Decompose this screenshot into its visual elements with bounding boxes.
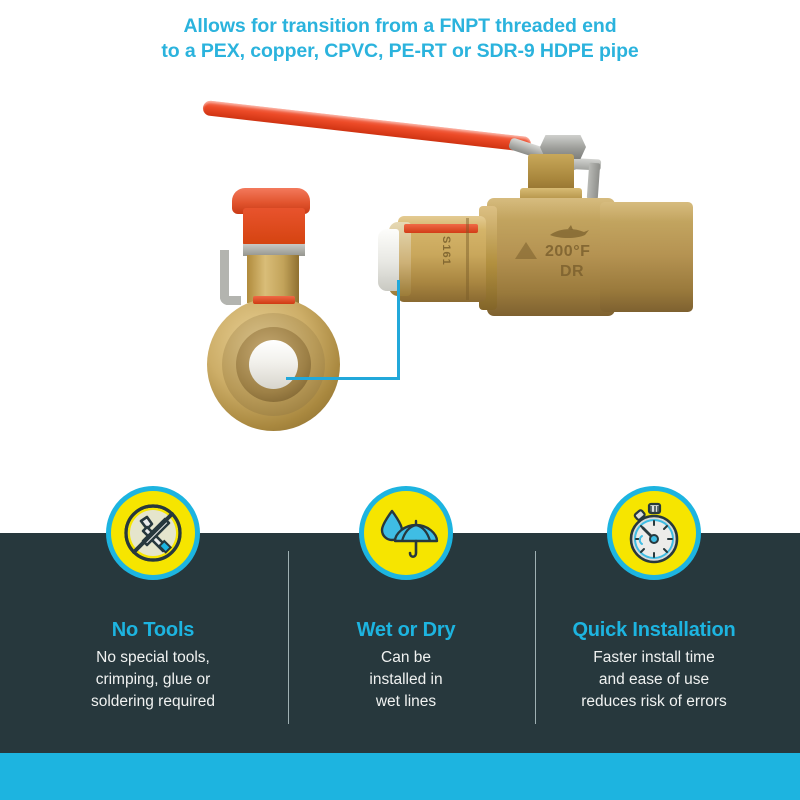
front-view-handle-body (243, 208, 305, 246)
headline-line-1: Allows for transition from a FNPT thread… (183, 15, 616, 37)
feature-desc-line: wet lines (281, 691, 531, 713)
page-title: Allows for transition from a FNPT thread… (0, 14, 800, 64)
collar-seam (466, 218, 469, 300)
feature-no-tools: No Tools No special tools, crimping, glu… (28, 533, 278, 753)
feature-desc-line: installed in (281, 669, 531, 691)
temperature-marking: 200°F (545, 243, 590, 261)
feature-desc-line: No special tools, (28, 647, 278, 669)
triangle-icon (515, 242, 537, 259)
feature-description: Faster install time and ease of use redu… (529, 647, 779, 713)
water-drop-umbrella-icon (359, 486, 453, 580)
feature-title: Wet or Dry (281, 619, 531, 642)
rating-marking: DR (560, 263, 584, 281)
infographic-page: Allows for transition from a FNPT thread… (0, 0, 800, 800)
shark-icon (548, 225, 590, 241)
release-clip (378, 229, 399, 291)
stopwatch-icon (607, 486, 701, 580)
feature-wet-or-dry: Wet or Dry Can be installed in wet lines (281, 533, 531, 753)
feature-description: No special tools, crimping, glue or sold… (28, 647, 278, 713)
feature-title: No Tools (28, 619, 278, 642)
headline-line-2: to a PEX, copper, CPVC, PE-RT or SDR-9 H… (0, 39, 800, 64)
feature-quick-installation: Quick Installation Faster install time a… (529, 533, 779, 753)
no-tools-icon (106, 486, 200, 580)
feature-desc-line: reduces risk of errors (529, 691, 779, 713)
front-view-bore (249, 340, 298, 389)
callout-line-vertical (397, 280, 400, 380)
front-view-lever-hook (220, 250, 241, 305)
lever-bracket (587, 163, 600, 200)
feature-desc-line: crimping, glue or (28, 669, 278, 691)
feature-desc-line: soldering required (28, 691, 278, 713)
bottom-accent-bar (0, 753, 800, 800)
serial-marking: S161 (440, 236, 452, 276)
feature-desc-line: Can be (281, 647, 531, 669)
feature-desc-line: Faster install time (529, 647, 779, 669)
fnpt-threaded-end (600, 202, 693, 312)
callout-line-horizontal (286, 377, 400, 380)
feature-title: Quick Installation (529, 619, 779, 642)
red-lever-handle (202, 100, 532, 152)
front-view-red-tab (253, 296, 295, 304)
feature-desc-line: and ease of use (529, 669, 779, 691)
feature-description: Can be installed in wet lines (281, 647, 531, 713)
product-image: S161 200°F DR (0, 80, 800, 480)
